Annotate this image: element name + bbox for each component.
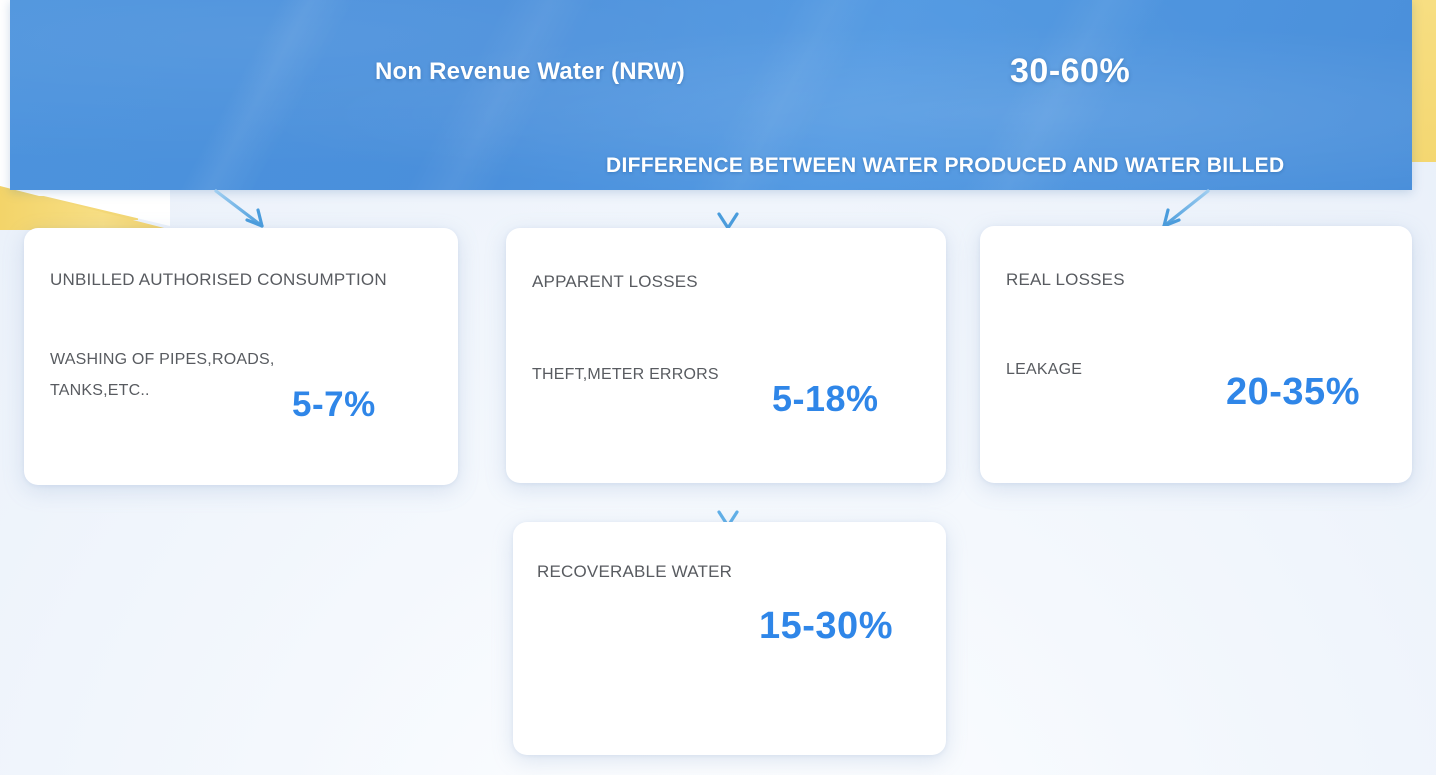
card-value: 5-18% [772, 378, 879, 420]
card-value: 20-35% [1226, 371, 1360, 414]
card-value: 5-7% [292, 385, 376, 425]
card-real-losses[interactable]: REAL LOSSES LEAKAGE 20-35% [980, 226, 1412, 483]
card-description: WASHING OF PIPES,ROADS, TANKS,ETC.. [50, 344, 274, 406]
card-title: APPARENT LOSSES [532, 271, 698, 293]
decorative-yellow-strip-right [1410, 0, 1436, 162]
card-apparent-losses[interactable]: APPARENT LOSSES THEFT,METER ERRORS 5-18% [506, 228, 946, 483]
card-value: 15-30% [759, 605, 893, 648]
card-title: RECOVERABLE WATER [537, 561, 732, 583]
card-title: REAL LOSSES [1006, 269, 1125, 291]
card-description: THEFT,METER ERRORS [532, 359, 719, 390]
banner-range: 30-60% [1010, 52, 1130, 91]
arrow-banner-to-apparent-icon [708, 184, 748, 234]
card-description: LEAKAGE [1006, 354, 1082, 385]
card-unbilled-authorised-consumption[interactable]: UNBILLED AUTHORISED CONSUMPTION WASHING … [24, 228, 458, 485]
arrow-banner-to-unbilled-icon [210, 186, 280, 234]
card-title: UNBILLED AUTHORISED CONSUMPTION [50, 269, 387, 291]
card-recoverable-water[interactable]: RECOVERABLE WATER 15-30% [513, 522, 946, 755]
banner-title: Non Revenue Water (NRW) [375, 58, 685, 86]
banner-subtitle: DIFFERENCE BETWEEN WATER PRODUCED AND WA… [606, 154, 1284, 178]
nrw-banner: Non Revenue Water (NRW) 30-60% DIFFERENC… [10, 0, 1412, 190]
